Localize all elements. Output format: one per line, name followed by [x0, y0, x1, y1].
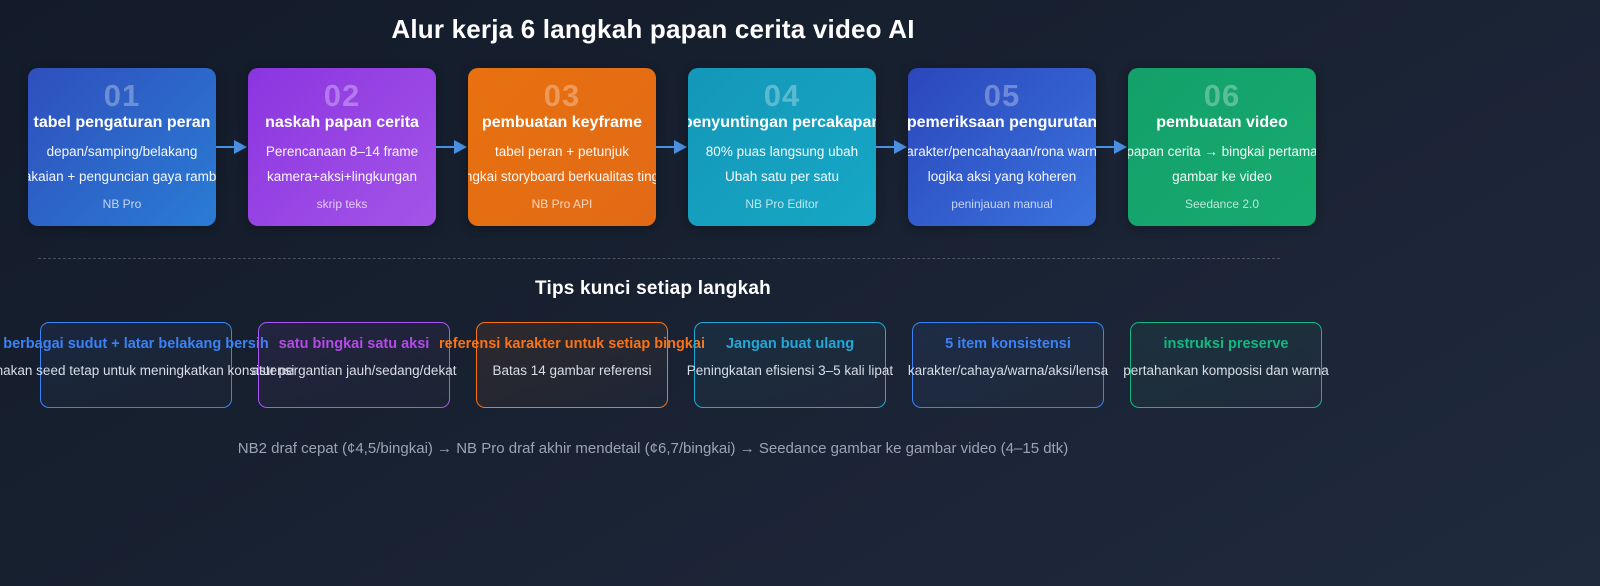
step-number: 02: [248, 80, 436, 111]
step-detail-line-1: 80% puas langsung ubah: [688, 145, 876, 159]
step-title: penyuntingan percakapan: [688, 115, 876, 131]
step-detail-line-1: Perencanaan 8–14 frame: [248, 145, 436, 159]
step-title: pemeriksaan pengurutan: [908, 115, 1096, 131]
step-detail-line-1: karakter/pencahayaan/rona warna: [908, 145, 1096, 159]
step-detail-line-1: tabel peran + petunjuk: [468, 145, 656, 159]
tip-heading: instruksi preserve: [1061, 337, 1391, 352]
step-arrow-icon: [436, 138, 468, 156]
step-card-06[interactable]: 06pembuatan videopapan cerita → bingkai …: [1128, 68, 1316, 226]
infographic-canvas: Alur kerja 6 langkah papan cerita video …: [0, 0, 1600, 586]
step-detail-line-2: gambar ke video: [1128, 170, 1316, 184]
step-title: tabel pengaturan peran: [28, 115, 216, 131]
step-card-03[interactable]: 03pembuatan keyframetabel peran + petunj…: [468, 68, 656, 226]
step-number: 01: [28, 80, 216, 111]
step-arrow-icon: [216, 138, 248, 156]
step-title: naskah papan cerita: [248, 115, 436, 131]
step-title: pembuatan video: [1128, 115, 1316, 131]
step-detail-line-2: Ubah satu per satu: [688, 170, 876, 184]
step-detail-line-1: depan/samping/belakang: [28, 145, 216, 159]
footer-note: NB2 draf cepat (¢4,5/bingkai) → NB Pro d…: [0, 440, 1306, 457]
step-detail-line-2: logika aksi yang koheren: [908, 170, 1096, 184]
step-detail-line-2: pakaian + penguncian gaya rambut: [28, 170, 216, 184]
tip-card-6[interactable]: instruksi preservepertahankan komposisi …: [1130, 322, 1322, 408]
tips-section-title: Tips kunci setiap langkah: [0, 278, 1306, 300]
step-card-05[interactable]: 05pemeriksaan pengurutankarakter/pencaha…: [908, 68, 1096, 226]
step-detail-line-2: bingkai storyboard berkualitas tinggi: [468, 170, 656, 184]
step-tool-label: skrip teks: [248, 198, 436, 210]
step-arrow-icon: [876, 138, 908, 156]
tips-row: berbagai sudut + latar belakang bersihGu…: [40, 322, 1280, 408]
step-detail-line-2: kamera+aksi+lingkungan: [248, 170, 436, 184]
step-detail-line-1: papan cerita → bingkai pertama: [1128, 145, 1316, 159]
tip-subtext: pertahankan komposisi dan warna: [1061, 364, 1391, 378]
step-tool-label: NB Pro Editor: [688, 198, 876, 210]
step-title: pembuatan keyframe: [468, 115, 656, 131]
step-tool-label: Seedance 2.0: [1128, 198, 1316, 210]
step-tool-label: peninjauan manual: [908, 198, 1096, 210]
step-tool-label: NB Pro API: [468, 198, 656, 210]
step-number: 05: [908, 80, 1096, 111]
step-card-01[interactable]: 01tabel pengaturan perandepan/samping/be…: [28, 68, 216, 226]
step-number: 04: [688, 80, 876, 111]
page-title: Alur kerja 6 langkah papan cerita video …: [0, 14, 1306, 45]
step-arrow-icon: [656, 138, 688, 156]
step-number: 06: [1128, 80, 1316, 111]
step-arrow-icon: [1096, 138, 1128, 156]
step-card-04[interactable]: 04penyuntingan percakapan80% puas langsu…: [688, 68, 876, 226]
step-tool-label: NB Pro: [28, 198, 216, 210]
step-card-02[interactable]: 02naskah papan ceritaPerencanaan 8–14 fr…: [248, 68, 436, 226]
step-number: 03: [468, 80, 656, 111]
section-divider: [38, 258, 1280, 259]
workflow-steps-row: 01tabel pengaturan perandepan/samping/be…: [28, 68, 1280, 226]
